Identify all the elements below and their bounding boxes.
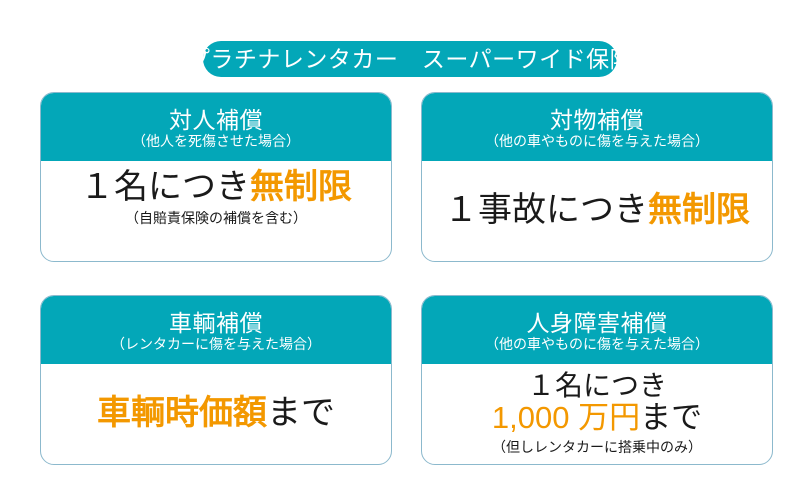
card-title: 対人補償 xyxy=(169,107,263,133)
card-subtitle: （他の車やものに傷を与えた場合） xyxy=(485,133,709,150)
value-highlight: 無制限 xyxy=(648,190,750,230)
card-note: （但しレンタカーに搭乗中のみ） xyxy=(492,438,702,456)
page-title: プラチナレンタカー スーパーワイド保険 xyxy=(187,48,633,71)
card-header: 対物補償 （他の車やものに傷を与えた場合） xyxy=(422,93,772,161)
card-header: 車輌補償 （レンタカーに傷を与えた場合） xyxy=(41,296,391,364)
card-body: １事故につき無制限 xyxy=(422,161,772,261)
value-lead: １事故につき xyxy=(444,190,648,230)
card-subtitle: （他人を死傷させた場合） xyxy=(132,133,300,150)
card-title: 人身障害補償 xyxy=(527,310,668,336)
value-lead: １名につき xyxy=(80,167,250,207)
value-lead: １名につき xyxy=(527,370,667,402)
card-body: 車輌時価額まで xyxy=(41,364,391,464)
card-value-line: １名につき xyxy=(527,370,667,402)
card-title: 対物補償 xyxy=(550,107,644,133)
coverage-card-vehicle-damage: 車輌補償 （レンタカーに傷を与えた場合） 車輌時価額まで xyxy=(40,295,392,465)
card-note: （自賠責保険の補償を含む） xyxy=(125,209,307,227)
card-value-line-secondary: 1,000 万円まで xyxy=(492,400,702,436)
value-highlight: 車輌時価額 xyxy=(97,393,267,433)
value-amount: 1,000 万円 xyxy=(492,400,640,436)
coverage-card-property-damage-liability: 対物補償 （他の車やものに傷を与えた場合） １事故につき無制限 xyxy=(421,92,773,262)
card-subtitle: （レンタカーに傷を与えた場合） xyxy=(111,336,321,353)
value-tail: まで xyxy=(267,393,335,433)
coverage-card-personal-injury-liability: 対人補償 （他人を死傷させた場合） １名につき無制限 （自賠責保険の補償を含む） xyxy=(40,92,392,262)
insurance-coverage-infographic: プラチナレンタカー スーパーワイド保険 対人補償 （他人を死傷させた場合） １名… xyxy=(0,0,811,502)
card-header: 対人補償 （他人を死傷させた場合） xyxy=(41,93,391,161)
card-value-line: １事故につき無制限 xyxy=(444,190,750,230)
card-title: 車輌補償 xyxy=(169,310,263,336)
card-value-line: 車輌時価額まで xyxy=(97,393,335,433)
card-body: １名につき 1,000 万円まで （但しレンタカーに搭乗中のみ） xyxy=(422,364,772,464)
card-subtitle: （他の車やものに傷を与えた場合） xyxy=(485,336,709,353)
value-tail: まで xyxy=(640,400,702,436)
card-header: 人身障害補償 （他の車やものに傷を与えた場合） xyxy=(422,296,772,364)
value-highlight: 無制限 xyxy=(250,167,352,207)
coverage-card-personal-accident: 人身障害補償 （他の車やものに傷を与えた場合） １名につき 1,000 万円まで… xyxy=(421,295,773,465)
page-title-pill: プラチナレンタカー スーパーワイド保険 xyxy=(203,41,617,77)
card-value-line: １名につき無制限 xyxy=(80,167,352,207)
card-body: １名につき無制限 （自賠責保険の補償を含む） xyxy=(41,161,391,261)
